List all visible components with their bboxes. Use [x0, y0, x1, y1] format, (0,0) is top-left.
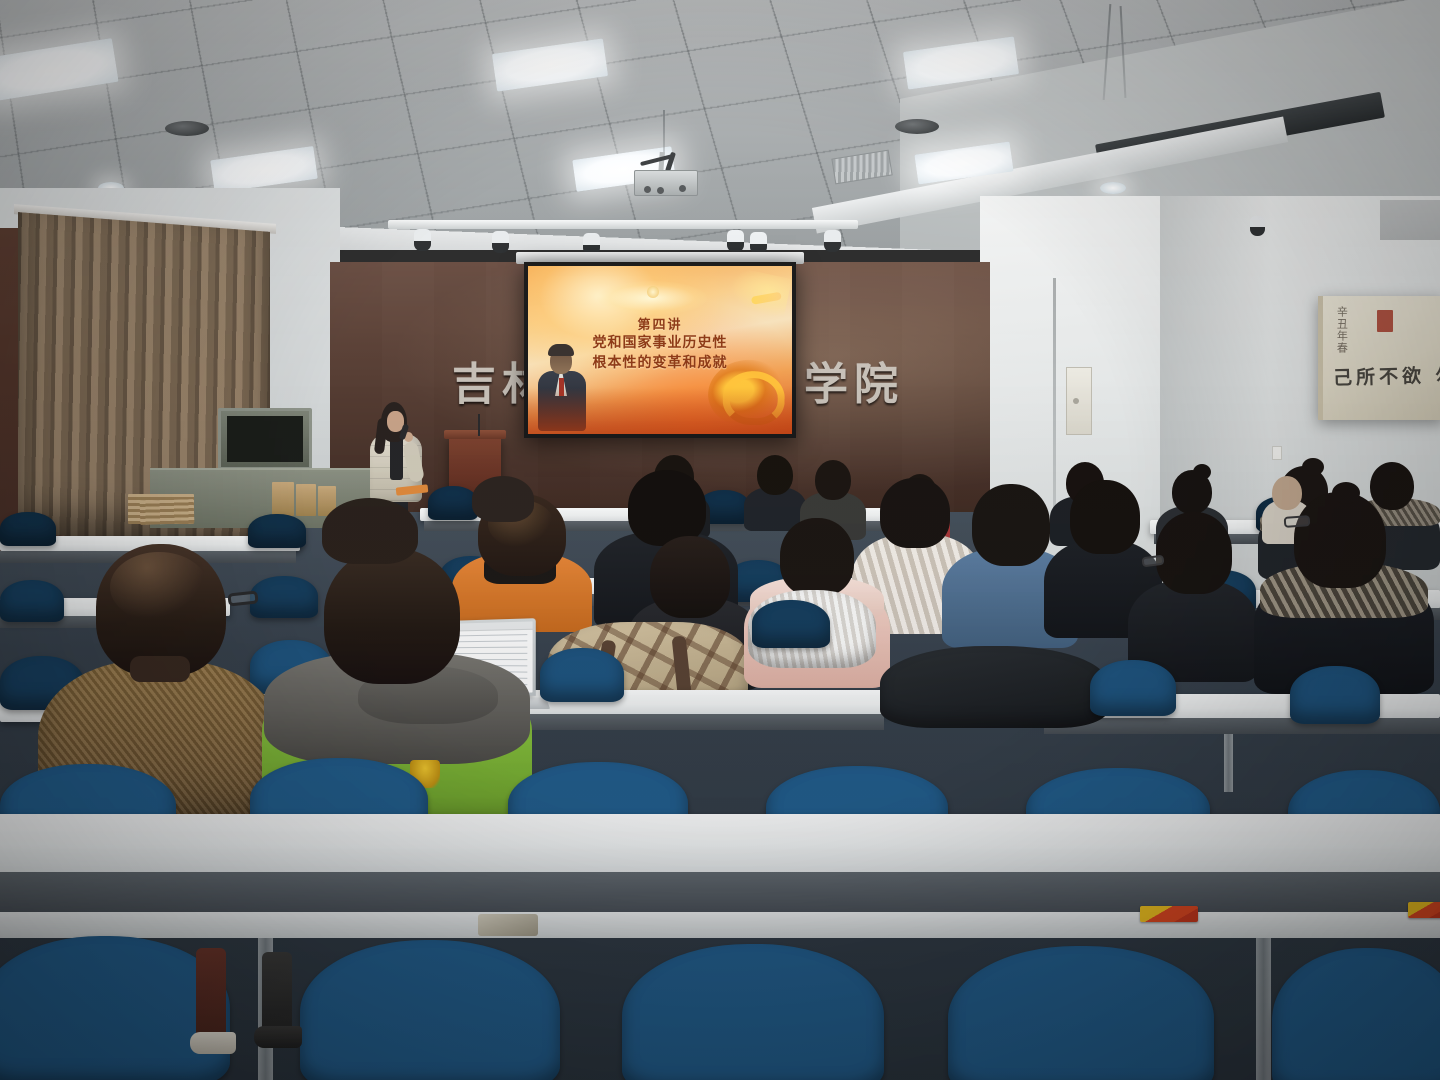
chair[interactable] — [0, 512, 56, 546]
eyeglasses-icon — [1284, 515, 1311, 528]
person-head — [972, 484, 1050, 566]
person-leg — [196, 948, 226, 1044]
audience-person-fur-collar-right — [1254, 492, 1434, 682]
audience-person — [744, 455, 806, 527]
person-head — [780, 518, 854, 596]
wall-sign-right: 学院 — [804, 348, 904, 412]
slide-title-line-3: 根本性的变革和成就 — [528, 352, 792, 372]
calligraphy-scroll: 辛丑年春 己所不欲 勿施 — [1318, 296, 1440, 420]
audience-person — [322, 498, 418, 564]
track-light-icon[interactable] — [824, 230, 841, 252]
chair[interactable] — [1090, 660, 1176, 716]
person-hair-bun — [1302, 458, 1324, 476]
wall-monitor-screen — [227, 416, 303, 462]
presenter-inner-top — [390, 436, 403, 480]
ceiling-hanger-wire — [663, 110, 665, 156]
presentation-slide: 第四讲 党和国家事业历史性 根本性的变革和成就 — [528, 266, 792, 434]
ceiling-downlight — [1100, 182, 1126, 194]
wall-monitor[interactable] — [218, 408, 312, 470]
calligraphy-seal-icon — [1377, 310, 1393, 332]
desk-apron — [1044, 718, 1440, 734]
person-hair-bun — [1193, 464, 1211, 480]
person-head — [650, 536, 730, 618]
person-head — [1294, 492, 1386, 588]
chair[interactable] — [300, 940, 560, 1080]
projection-screen[interactable]: 第四讲 党和国家事业历史性 根本性的变革和成就 — [524, 262, 796, 438]
chair[interactable] — [622, 944, 884, 1080]
chair[interactable] — [540, 648, 624, 702]
cardboard-box[interactable] — [296, 484, 316, 516]
track-light-icon[interactable] — [727, 230, 744, 252]
person-head — [1156, 512, 1232, 594]
party-emblem-icon — [647, 286, 659, 298]
smoke-detector-icon — [165, 121, 209, 136]
projector-lens-icon — [657, 187, 664, 194]
person-hair-bun — [1332, 482, 1360, 504]
cardboard-box[interactable] — [272, 482, 294, 516]
projector-icon — [634, 170, 698, 196]
person-hair-highlight — [110, 552, 208, 622]
microphone-stand — [478, 414, 480, 436]
chair[interactable] — [752, 600, 830, 648]
person-head — [757, 455, 793, 495]
smoke-detector-icon — [895, 119, 939, 134]
desk-leg — [1256, 938, 1271, 1080]
person-head — [472, 476, 534, 522]
desk-row-1 — [0, 814, 1440, 872]
person-neck — [130, 656, 190, 682]
slide-bottom-gradient — [528, 388, 792, 434]
chair[interactable] — [248, 514, 306, 548]
lecture-hall-photo: 吉林 学院 第四讲 党 — [0, 0, 1440, 1080]
calligraphy-inscription: 己所不欲 勿施 — [1333, 361, 1440, 391]
calligraphy-side-column: 辛丑年春 — [1335, 306, 1347, 354]
desk-lip — [0, 912, 1440, 938]
person-head — [880, 478, 950, 548]
track-light-icon[interactable] — [750, 232, 767, 254]
projector-lens-icon — [679, 185, 686, 192]
slide-title-line-1: 第四讲 — [528, 314, 792, 333]
track-light-icon[interactable] — [492, 231, 509, 253]
light-switch-icon[interactable] — [1272, 446, 1282, 460]
track-light-icon[interactable] — [414, 229, 431, 251]
desk-item-clip[interactable] — [478, 914, 538, 936]
wall-recess — [1380, 200, 1440, 240]
desk-sticker[interactable] — [1408, 902, 1440, 918]
person-head — [322, 498, 418, 564]
projector-lens-icon — [644, 186, 651, 193]
chair[interactable] — [1290, 666, 1380, 724]
light-track-rail — [388, 220, 858, 229]
black-bag[interactable] — [880, 646, 1108, 728]
desk-leg — [1224, 734, 1233, 792]
person-head — [628, 470, 706, 546]
stacked-materials[interactable] — [140, 499, 195, 525]
audience-person-glasses — [1128, 512, 1258, 670]
person-head — [815, 460, 851, 500]
slide-title-line-2: 党和国家事业历史性 — [528, 332, 792, 352]
audience-person — [472, 476, 534, 522]
shoe-icon — [254, 1026, 302, 1048]
shoe-icon — [190, 1032, 236, 1054]
chair[interactable] — [948, 946, 1214, 1080]
person-head — [324, 548, 460, 684]
wall-control-panel[interactable] — [1066, 367, 1092, 435]
track-light-icon[interactable] — [1250, 216, 1265, 236]
desk-sticker[interactable] — [1140, 906, 1198, 922]
desk-apron — [0, 872, 1440, 912]
lectern-top-surface — [444, 430, 506, 439]
